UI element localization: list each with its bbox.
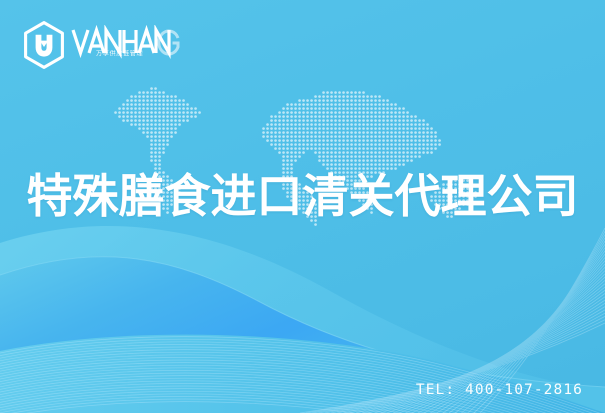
wave-striations xyxy=(0,337,605,413)
brand-subtitle: 万享供应链管理 xyxy=(96,48,143,58)
brand-logo[interactable]: 万享供应链管理 xyxy=(21,20,181,70)
marketing-banner: 万享供应链管理 特殊膳食进口清关代理公司 TEL: 400-107-2816 xyxy=(0,0,605,413)
wave-bottom xyxy=(0,335,605,413)
brand-text-block: 万享供应链管理 xyxy=(71,23,181,67)
page-title: 特殊膳食进口清关代理公司 xyxy=(0,168,605,224)
contact-phone: TEL: 400-107-2816 xyxy=(416,382,583,398)
wave-highlight-line xyxy=(0,257,605,387)
vanhang-hexagon-icon xyxy=(21,20,67,70)
